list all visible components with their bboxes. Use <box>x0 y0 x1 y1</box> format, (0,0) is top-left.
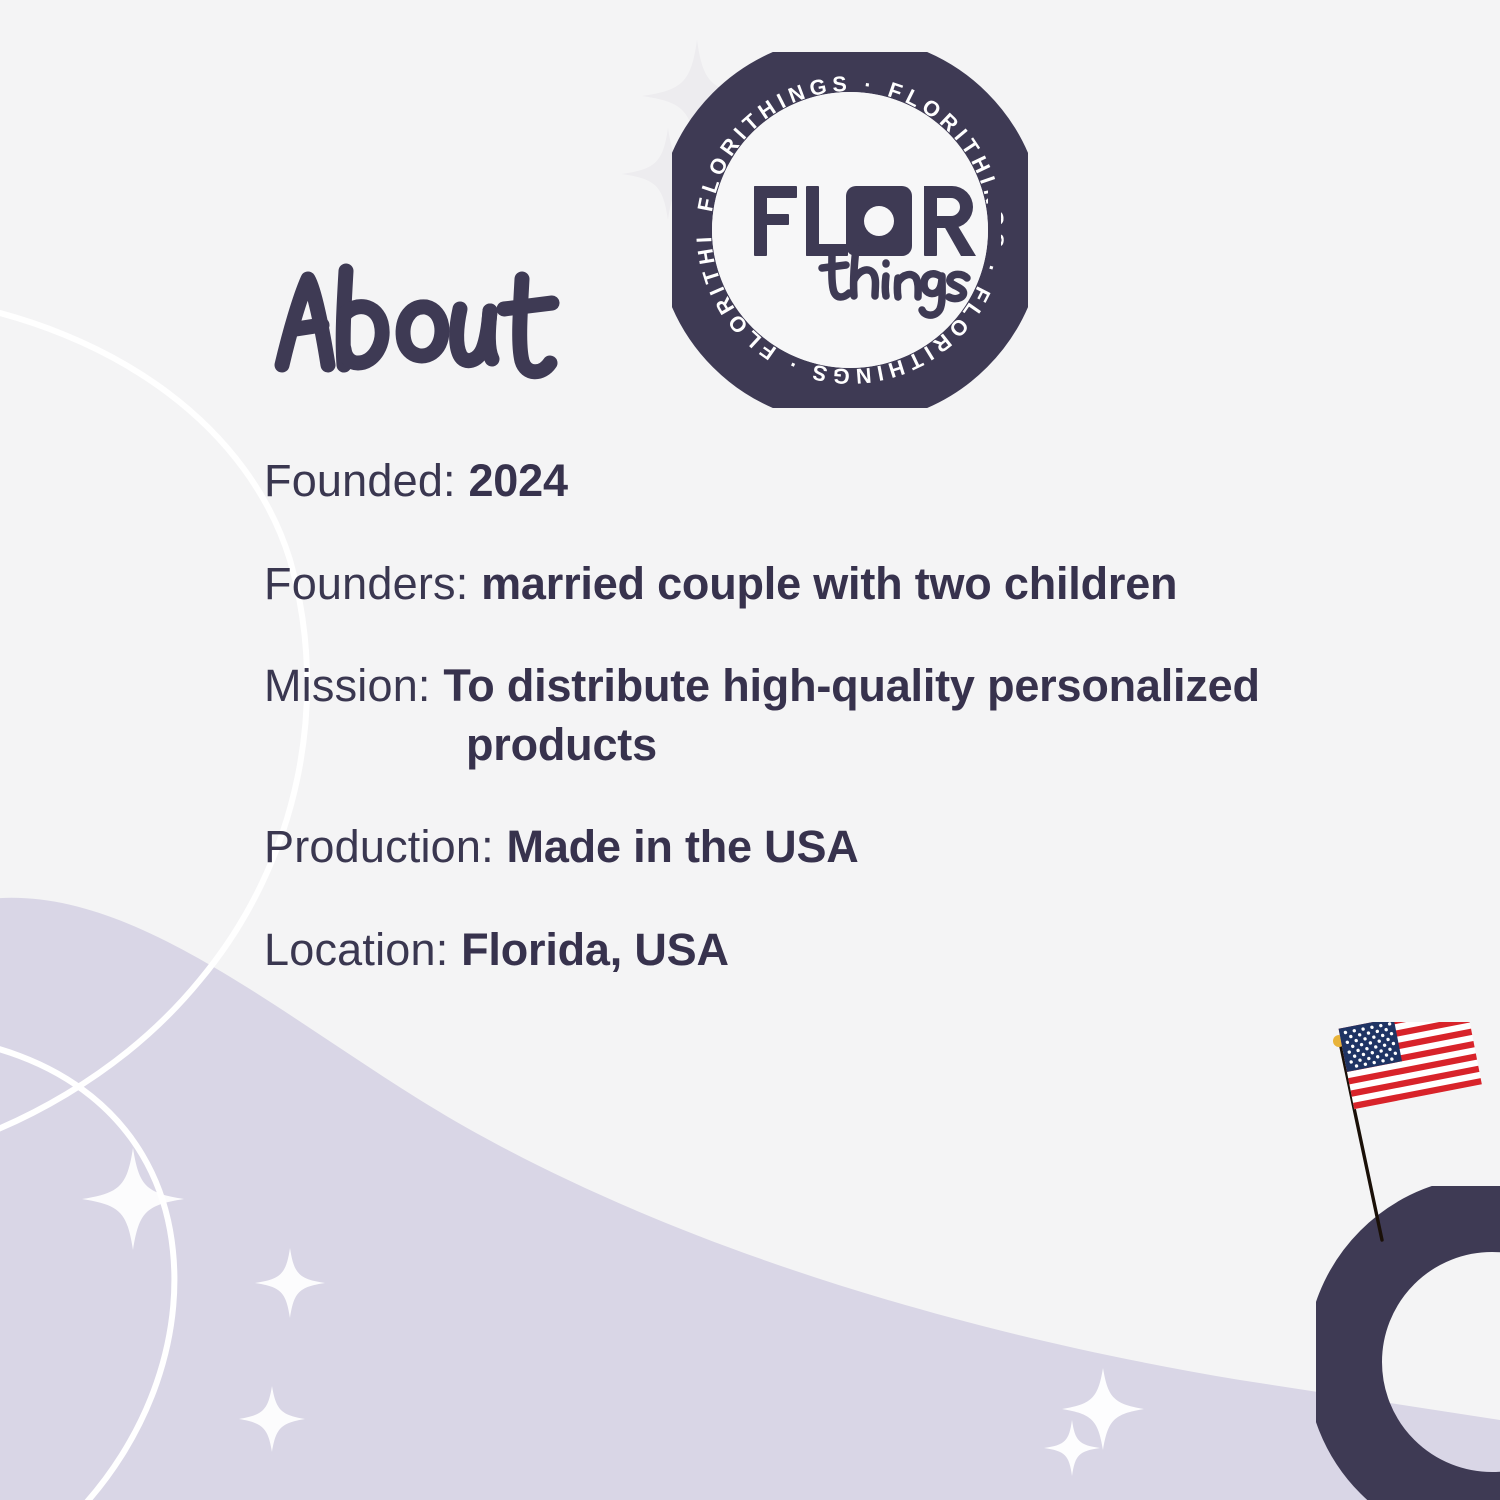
detail-label-founded: Founded: <box>264 455 468 506</box>
white-curve-outer <box>0 300 307 1150</box>
detail-label-founders: Founders: <box>264 558 481 609</box>
detail-value-mission: To distribute high-quality personalized … <box>443 660 1259 770</box>
sparkle-icon-wave-2 <box>255 1248 325 1318</box>
detail-row-mission: Mission: To distribute high-quality pers… <box>264 657 1384 774</box>
detail-value-production: Made in the USA <box>507 821 859 872</box>
detail-row-location: Location: Florida, USA <box>264 921 1384 980</box>
white-curve-inner <box>0 1036 174 1500</box>
sparkle-icon-wave-3 <box>239 1386 305 1452</box>
detail-value-founders: married couple with two children <box>481 558 1177 609</box>
flag-cloth <box>1339 1022 1482 1109</box>
detail-label-mission: Mission: <box>264 660 443 711</box>
united-states-flag-icon <box>1320 1022 1500 1252</box>
detail-value-location: Florida, USA <box>461 924 729 975</box>
detail-label-location: Location: <box>264 924 461 975</box>
detail-row-production: Production: Made in the USA <box>264 818 1384 877</box>
sparkle-icon-wave-4 <box>1062 1368 1144 1450</box>
about-card: FLORITHINGS · FLORITHINGS · FLORITHINGS … <box>0 0 1500 1500</box>
sparkle-icon-wave-5 <box>1044 1420 1100 1476</box>
detail-row-founders: Founders: married couple with two childr… <box>264 555 1384 614</box>
page-title: About <box>264 253 684 393</box>
detail-label-production: Production: <box>264 821 507 872</box>
lavender-wave-shape <box>0 898 1500 1500</box>
sparkle-icon-wave-1 <box>82 1148 184 1250</box>
detail-value-founded: 2024 <box>468 455 567 506</box>
detail-row-founded: Founded: 2024 <box>264 452 1384 511</box>
about-details-list: Founded: 2024 Founders: married couple w… <box>264 452 1384 979</box>
florithings-logo: FLORITHINGS · FLORITHINGS · FLORITHINGS … <box>672 52 1028 408</box>
